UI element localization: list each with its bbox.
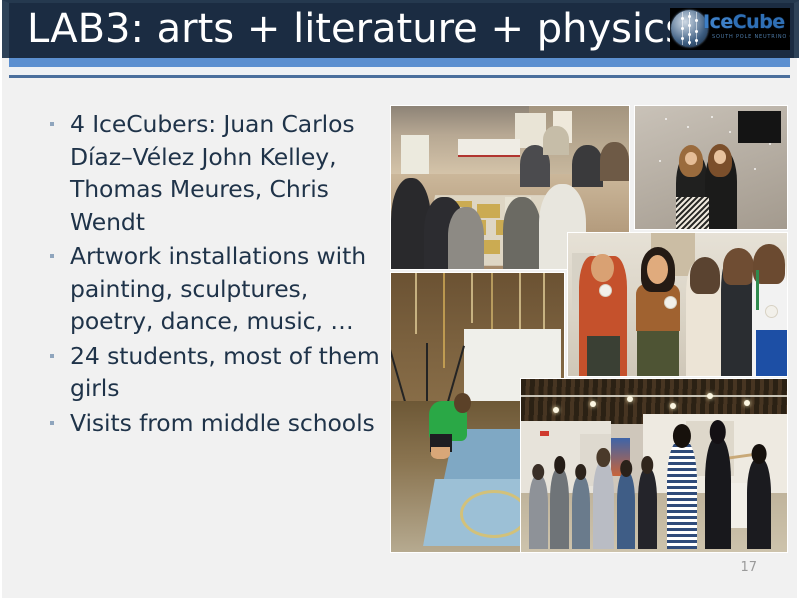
square-bullet-icon (40, 240, 70, 258)
icecube-logo: IceCube SOUTH POLE NEUTRINO OBSERVATORY (670, 8, 790, 50)
icecube-wordmark-ice: Ice (703, 11, 733, 33)
list-item-label: 4 IceCubers: Juan Carlos Díaz–Vélez John… (70, 108, 380, 238)
photo-collage (390, 105, 788, 553)
icecube-wordmark-cube: Cube (733, 11, 785, 33)
list-item-label: Visits from middle schools (70, 407, 380, 440)
photo-two-women-installation (634, 105, 788, 230)
page-number: 17 (740, 560, 757, 576)
divider-dark (9, 75, 790, 78)
square-bullet-icon (40, 108, 70, 126)
photo-gallery-tour (520, 378, 788, 553)
list-item-label: 24 students, most of them girls (70, 340, 380, 405)
square-bullet-icon (40, 407, 70, 425)
list-item: Artwork installations with painting, scu… (40, 240, 380, 338)
divider-pale (9, 67, 790, 75)
square-bullet-icon (40, 340, 70, 358)
bullet-list: 4 IceCubers: Juan Carlos Díaz–Vélez John… (40, 108, 380, 441)
list-item: Visits from middle schools (40, 407, 380, 440)
list-item-label: Artwork installations with painting, scu… (70, 240, 380, 338)
list-item: 4 IceCubers: Juan Carlos Díaz–Vélez John… (40, 108, 380, 238)
icecube-tagline: SOUTH POLE NEUTRINO OBSERVATORY (712, 34, 790, 41)
icecube-wordmark: IceCube (703, 12, 785, 33)
photo-exhibit-group (567, 232, 788, 377)
divider-blue (9, 58, 790, 67)
page-title: LAB3: arts + literature + physics (27, 1, 686, 57)
slide-title-bar: LAB3: arts + literature + physics IceCub… (2, 0, 799, 58)
slide: LAB3: arts + literature + physics IceCub… (0, 0, 799, 600)
list-item: 24 students, most of them girls (40, 340, 380, 405)
